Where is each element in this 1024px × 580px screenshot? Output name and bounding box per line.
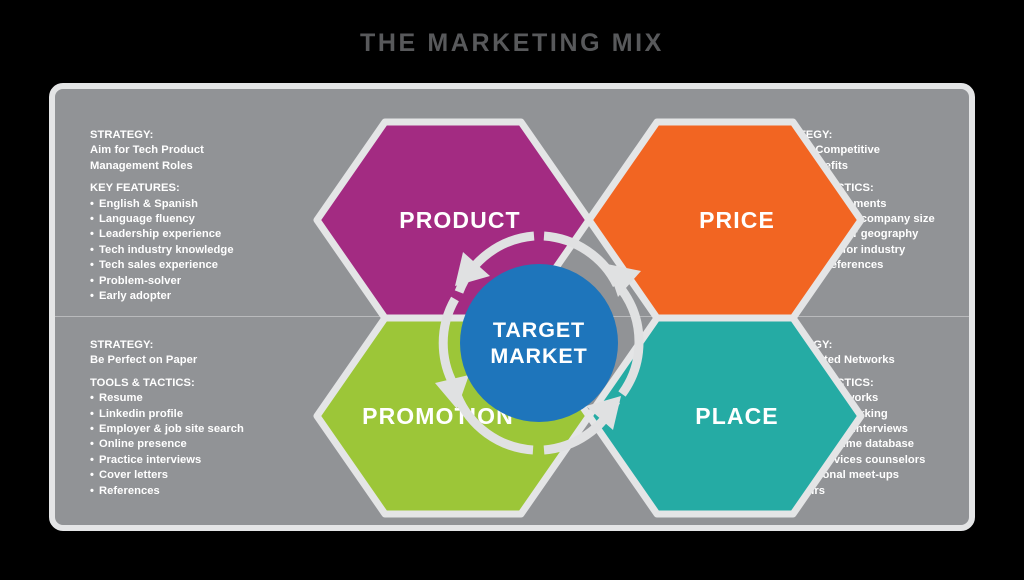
product-item-2: Language fluency	[90, 212, 234, 227]
hexagon-place-label: PLACE	[695, 403, 778, 429]
diagram-panel: STRATEGY: Aim for Tech Product Managemen…	[49, 83, 975, 531]
promotion-strategy-heading: STRATEGY:	[90, 338, 244, 353]
promotion-item-5: Practice interviews	[90, 453, 244, 468]
product-strategy-line-1: Aim for Tech Product	[90, 143, 234, 158]
promotion-item-7: References	[90, 484, 244, 499]
place-item-3: Informational interviews	[769, 422, 925, 437]
product-strategy-heading: STRATEGY:	[90, 128, 234, 143]
price-item-2: Benchmark for company size	[769, 212, 935, 227]
spacer	[90, 369, 244, 376]
place-item-2: LinkedIn networking	[769, 407, 925, 422]
hexagon-product-label: PRODUCT	[399, 207, 520, 233]
target-market-circle-shape	[460, 264, 618, 422]
place-strategy-line-1: Work Trusted Networks	[769, 353, 925, 368]
panel-divider	[55, 316, 969, 317]
hexagon-price-label: PRICE	[699, 207, 775, 233]
hexagon-promotion-shape	[317, 318, 589, 514]
promotion-item-6: Cover letters	[90, 468, 244, 483]
price-strategy-line-2: Pay & Benefits	[769, 159, 935, 174]
spacer	[769, 369, 925, 376]
product-item-6: Problem-solver	[90, 274, 234, 289]
promotion-item-1: Resume	[90, 391, 244, 406]
promotion-strategy-line-1: Be Perfect on Paper	[90, 353, 244, 368]
promotion-item-2: Linkedin profile	[90, 407, 244, 422]
target-market-line-1: TARGET	[493, 318, 585, 342]
page-title: THE MARKETING MIX	[0, 29, 1024, 58]
place-item-5: Career services counselors	[769, 453, 925, 468]
target-market-circle[interactable]: TARGET MARKET	[460, 264, 618, 422]
product-list-heading: KEY FEATURES:	[90, 181, 234, 196]
place-item-7: Job fairs	[769, 484, 925, 499]
product-strategy-line-2: Management Roles	[90, 159, 234, 174]
hexagon-product-shape	[317, 122, 589, 318]
place-text-block: STRATEGY: Work Trusted Networks TOOLS & …	[769, 338, 925, 499]
place-item-4: College resume database	[769, 437, 925, 452]
place-item-6: Professional meet-ups	[769, 468, 925, 483]
spacer	[90, 174, 234, 181]
promotion-item-3: Employer & job site search	[90, 422, 244, 437]
hexagon-promotion[interactable]: PROMOTION	[317, 318, 589, 514]
product-item-4: Tech industry knowledge	[90, 243, 234, 258]
product-text-block: STRATEGY: Aim for Tech Product Managemen…	[90, 128, 234, 304]
promotion-item-4: Online presence	[90, 437, 244, 452]
target-market-line-2: MARKET	[490, 344, 587, 368]
place-item-1: Personal networks	[769, 391, 925, 406]
price-item-4: Benchmark for industry	[769, 243, 935, 258]
price-item-1: Salary requirements	[769, 197, 935, 212]
spacer	[769, 174, 935, 181]
price-strategy-heading: STRATEGY:	[769, 128, 935, 143]
price-list-heading: TOOLS & TACTICS:	[769, 181, 935, 196]
product-item-3: Leadership experience	[90, 227, 234, 242]
product-item-7: Early adopter	[90, 289, 234, 304]
place-list-heading: TOOLS & TACTICS:	[769, 376, 925, 391]
price-strategy-line-1: Achieve Competitive	[769, 143, 935, 158]
product-item-5: Tech sales experience	[90, 258, 234, 273]
product-item-1: English & Spanish	[90, 197, 234, 212]
hexagon-product[interactable]: PRODUCT	[317, 122, 589, 318]
circular-arrow-heads-icon	[435, 252, 641, 430]
promotion-text-block: STRATEGY: Be Perfect on Paper TOOLS & TA…	[90, 338, 244, 499]
circular-arrow-ring-icon	[443, 236, 639, 450]
place-strategy-heading: STRATEGY:	[769, 338, 925, 353]
price-text-block: STRATEGY: Achieve Competitive Pay & Bene…	[769, 128, 935, 274]
price-item-3: Benchmark for geography	[769, 227, 935, 242]
price-item-5: Benefit preferences	[769, 258, 935, 273]
hexagon-promotion-label: PROMOTION	[362, 403, 514, 429]
promotion-list-heading: TOOLS & TACTICS:	[90, 376, 244, 391]
